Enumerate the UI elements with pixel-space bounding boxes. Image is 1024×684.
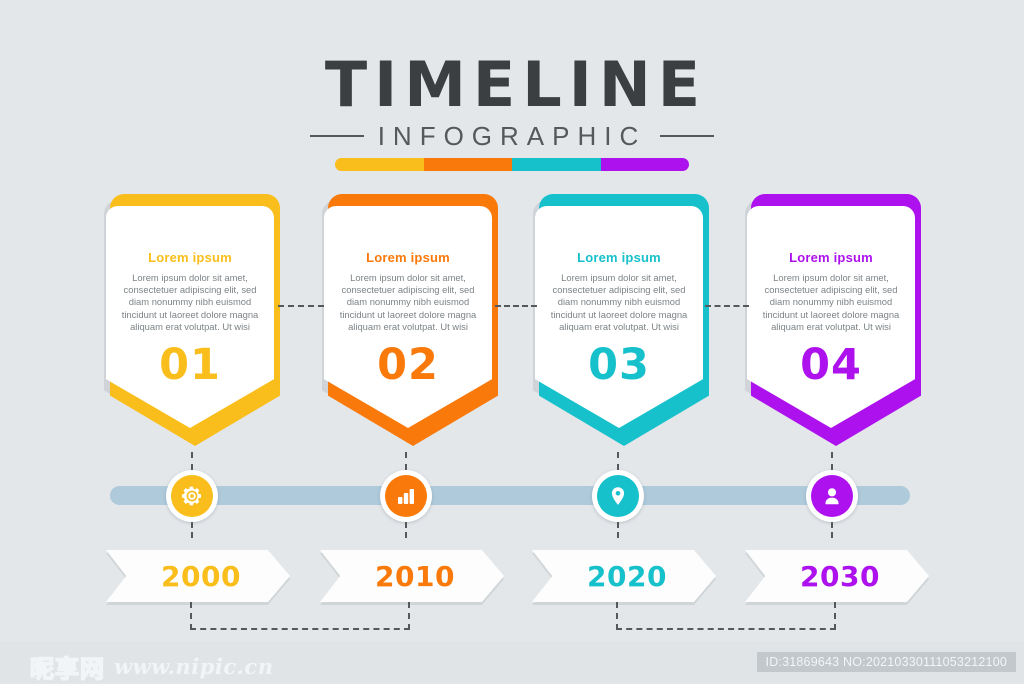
node-disc bbox=[597, 475, 639, 517]
node-stub-top-2 bbox=[405, 452, 407, 470]
card-number: 02 bbox=[324, 340, 492, 390]
card-number: 04 bbox=[747, 340, 915, 390]
node-stub-top-3 bbox=[617, 452, 619, 470]
watermark: 昵享网 www.nipic.cn bbox=[30, 649, 274, 684]
year-label: 2000 bbox=[161, 560, 241, 593]
subtitle-rule-right bbox=[660, 135, 714, 137]
timeline-node-1[interactable] bbox=[166, 470, 218, 522]
year-ribbon-1[interactable]: 2000 bbox=[106, 550, 290, 602]
subtitle-rule-left bbox=[310, 135, 364, 137]
page-title: TIMELINE bbox=[8, 54, 1024, 116]
color-bar-segment-1 bbox=[335, 158, 424, 171]
card-number: 01 bbox=[106, 340, 274, 390]
step-card-1[interactable]: Lorem ipsum Lorem ipsum dolor sit amet, … bbox=[104, 190, 280, 448]
step-card-2[interactable]: Lorem ipsum Lorem ipsum dolor sit amet, … bbox=[322, 190, 498, 448]
card-connector-2-3 bbox=[495, 305, 537, 307]
title-block: TIMELINE INFOGRAPHIC bbox=[0, 54, 1024, 171]
image-id-badge: ID:31869643 NO:20210330111053212100 bbox=[757, 652, 1016, 672]
card-heading: Lorem ipsum bbox=[535, 250, 703, 265]
bottom-bracket-3-4 bbox=[616, 602, 836, 630]
year-ribbon-face: 2000 bbox=[106, 550, 290, 602]
year-ribbon-3[interactable]: 2020 bbox=[532, 550, 716, 602]
node-stub-top-1 bbox=[191, 452, 193, 470]
watermark-logo: 昵享网 bbox=[30, 649, 105, 684]
step-card-3[interactable]: Lorem ipsum Lorem ipsum dolor sit amet, … bbox=[533, 190, 709, 448]
bar-chart-icon bbox=[395, 485, 417, 507]
timeline-node-3[interactable] bbox=[592, 470, 644, 522]
card-number: 03 bbox=[535, 340, 703, 390]
node-disc bbox=[811, 475, 853, 517]
color-bar-segment-2 bbox=[424, 158, 513, 171]
year-ribbon-2[interactable]: 2010 bbox=[320, 550, 504, 602]
gear-icon bbox=[180, 484, 204, 508]
timeline-node-2[interactable] bbox=[380, 470, 432, 522]
node-stub-top-4 bbox=[831, 452, 833, 470]
node-stub-bottom-3 bbox=[617, 522, 619, 538]
card-body-text: Lorem ipsum dolor sit amet, consectetuer… bbox=[543, 272, 695, 333]
color-bar-segment-4 bbox=[601, 158, 690, 171]
card-body-text: Lorem ipsum dolor sit amet, consectetuer… bbox=[114, 272, 266, 333]
watermark-url: www.nipic.cn bbox=[114, 654, 274, 679]
year-ribbon-face: 2020 bbox=[532, 550, 716, 602]
step-card-4[interactable]: Lorem ipsum Lorem ipsum dolor sit amet, … bbox=[745, 190, 921, 448]
card-heading: Lorem ipsum bbox=[324, 250, 492, 265]
node-stub-bottom-4 bbox=[831, 522, 833, 538]
accent-color-bar bbox=[335, 158, 689, 171]
node-disc bbox=[385, 475, 427, 517]
card-body-text: Lorem ipsum dolor sit amet, consectetuer… bbox=[755, 272, 907, 333]
card-connector-3-4 bbox=[705, 305, 749, 307]
year-label: 2020 bbox=[587, 560, 667, 593]
page-subtitle: INFOGRAPHIC bbox=[364, 123, 661, 149]
footer-watermark-bar: 昵享网 www.nipic.cn ID:31869643 NO:20210330… bbox=[0, 641, 1024, 683]
card-heading: Lorem ipsum bbox=[747, 250, 915, 265]
year-ribbon-face: 2030 bbox=[745, 550, 929, 602]
year-label: 2030 bbox=[800, 560, 880, 593]
year-ribbon-face: 2010 bbox=[320, 550, 504, 602]
year-label: 2010 bbox=[375, 560, 455, 593]
card-body-text: Lorem ipsum dolor sit amet, consectetuer… bbox=[332, 272, 484, 333]
color-bar-segment-3 bbox=[512, 158, 601, 171]
node-stub-bottom-2 bbox=[405, 522, 407, 538]
node-disc bbox=[171, 475, 213, 517]
card-connector-1-2 bbox=[278, 305, 324, 307]
subtitle-row: INFOGRAPHIC bbox=[0, 123, 1024, 149]
node-stub-bottom-1 bbox=[191, 522, 193, 538]
infographic-canvas: TIMELINE INFOGRAPHIC Lorem ipsum Lorem i… bbox=[0, 0, 1024, 683]
timeline-node-4[interactable] bbox=[806, 470, 858, 522]
card-heading: Lorem ipsum bbox=[106, 250, 274, 265]
person-icon bbox=[821, 485, 843, 507]
bottom-bracket-1-2 bbox=[190, 602, 410, 630]
timeline-bar bbox=[110, 486, 910, 505]
year-ribbon-4[interactable]: 2030 bbox=[745, 550, 929, 602]
location-pin-icon bbox=[607, 485, 629, 507]
